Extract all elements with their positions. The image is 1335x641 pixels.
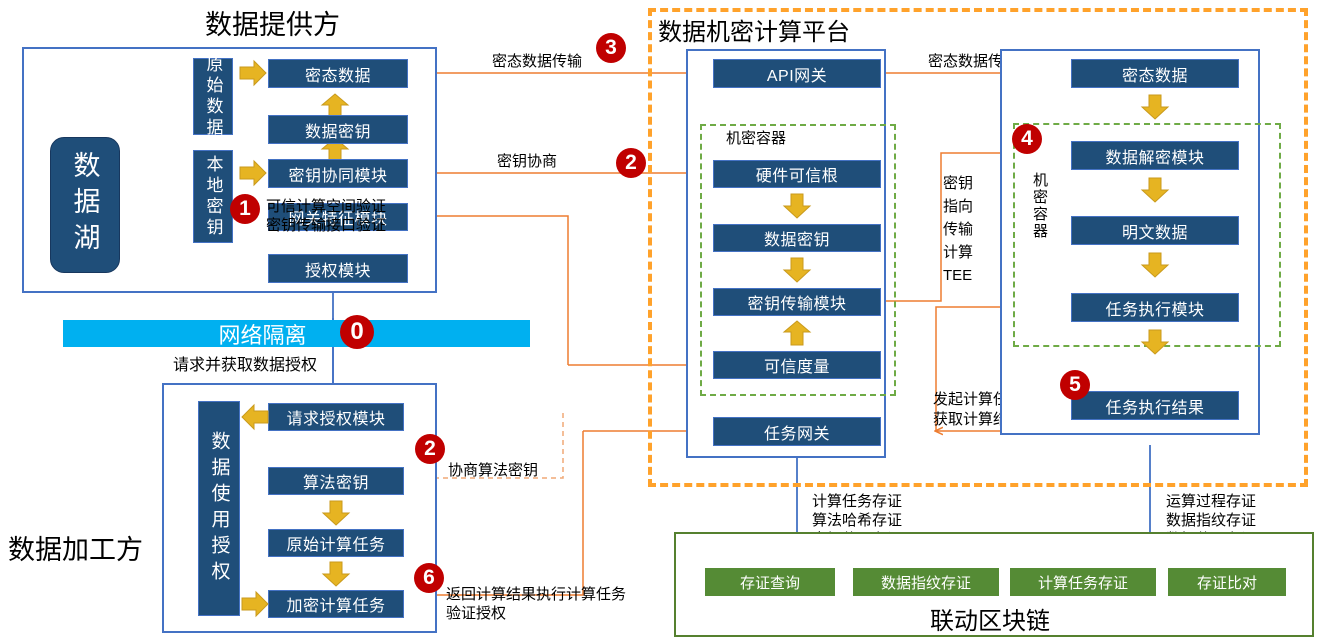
block-arrow-up-icon — [782, 320, 812, 347]
request-auth-label: 请求并获取数据授权 — [173, 356, 317, 375]
task-gateway-box[interactable]: 任务网关 — [713, 417, 881, 446]
badge-2-algo: 2 — [415, 434, 445, 464]
flow2-label: 密钥协商 — [497, 152, 557, 171]
badge-1: 1 — [230, 194, 260, 224]
api-gateway-box[interactable]: API网关 — [713, 59, 881, 88]
chain-right-line1: 运算过程存证 — [1166, 492, 1256, 511]
badge-3: 3 — [596, 33, 626, 63]
compute-box-cipher-data[interactable]: 密态数据 — [1071, 59, 1239, 88]
data-use-authorization-column[interactable]: 数据使用授权 — [198, 401, 240, 616]
local-key-box[interactable]: 本地密钥 — [193, 150, 233, 243]
processor-box-encrypted-compute-task[interactable]: 加密计算任务 — [268, 590, 404, 618]
algo-key-label: 协商算法密钥 — [448, 461, 538, 480]
provider-title: 数据提供方 — [205, 3, 340, 42]
chain-button-task-evidence[interactable]: 计算任务存证 — [1010, 568, 1156, 596]
chain-button-evidence-query[interactable]: 存证查询 — [705, 568, 835, 596]
platform-box-trusted-measurement[interactable]: 可信度量 — [713, 351, 881, 379]
chain-button-data-fingerprint[interactable]: 数据指纹存证 — [853, 568, 999, 596]
raw-data-box[interactable]: 原始数据 — [193, 58, 233, 135]
diagram-canvas: 数据提供方 数据湖 原始数据 本地密钥 密态数据 数据密钥 密钥协同模块 网关特… — [0, 0, 1335, 641]
flow1-label-line2: 密钥传输接口验证 — [266, 216, 386, 235]
platform-box-key-transfer-module[interactable]: 密钥传输模块 — [713, 288, 881, 316]
badge-6: 6 — [414, 563, 444, 593]
network-isolation-bar: 网络隔离 — [63, 320, 530, 347]
badge-5: 5 — [1060, 370, 1090, 400]
provider-box-cipher-data[interactable]: 密态数据 — [268, 59, 408, 88]
data-lake-box[interactable]: 数据湖 — [50, 137, 120, 273]
return-result-line2: 验证授权 — [446, 604, 506, 623]
block-arrow-down-icon — [321, 499, 351, 527]
network-isolation-label: 网络隔离 — [218, 318, 306, 350]
block-arrow-down-icon — [782, 192, 812, 220]
platform-box-data-key[interactable]: 数据密钥 — [713, 224, 881, 252]
badge-4: 4 — [1012, 124, 1042, 154]
blockchain-title: 联动区块链 — [930, 601, 1050, 636]
badge-0: 0 — [340, 315, 374, 349]
platform-box-hw-root-of-trust[interactable]: 硬件可信根 — [713, 160, 881, 188]
block-arrow-right-icon — [238, 158, 268, 188]
chain-right-line2: 数据指纹存证 — [1166, 511, 1256, 530]
chain-left-line1: 计算任务存证 — [812, 492, 902, 511]
badge-2: 2 — [616, 148, 646, 178]
chain-button-evidence-compare[interactable]: 存证比对 — [1168, 568, 1286, 596]
block-arrow-down-icon — [1140, 328, 1170, 356]
block-arrow-down-icon — [321, 560, 351, 588]
compute-box-data-decrypt-module[interactable]: 数据解密模块 — [1071, 141, 1239, 170]
block-arrow-left-icon — [240, 402, 270, 432]
block-arrow-down-icon — [1140, 93, 1170, 121]
platform-enclave-label: 机密容器 — [726, 129, 786, 148]
provider-box-key-coop-module[interactable]: 密钥协同模块 — [268, 159, 408, 188]
chain-left-line2: 算法哈希存证 — [812, 511, 902, 530]
compute-box-plaintext-data[interactable]: 明文数据 — [1071, 216, 1239, 245]
compute-box-task-result[interactable]: 任务执行结果 — [1071, 391, 1239, 420]
provider-box-auth-module[interactable]: 授权模块 — [268, 254, 408, 283]
flow1-label-line1: 可信计算空间验证 — [266, 197, 386, 216]
compute-enclave-label: 机密容器 — [1030, 172, 1049, 240]
block-arrow-down-icon — [1140, 251, 1170, 279]
compute-box-task-exec-module[interactable]: 任务执行模块 — [1071, 293, 1239, 322]
block-arrow-down-icon — [1140, 176, 1170, 204]
processor-box-raw-compute-task[interactable]: 原始计算任务 — [268, 529, 404, 557]
block-arrow-right-icon — [238, 58, 268, 88]
processor-box-request-auth-module[interactable]: 请求授权模块 — [268, 403, 404, 431]
block-arrow-down-icon — [782, 256, 812, 284]
provider-box-data-key[interactable]: 数据密钥 — [268, 115, 408, 144]
block-arrow-right-icon — [240, 589, 270, 619]
processor-title: 数据加工方 — [8, 528, 143, 567]
flow3-label: 密态数据传输 — [492, 52, 582, 71]
platform-title: 数据机密计算平台 — [658, 12, 850, 47]
return-result-line1: 返回计算结果执行计算任务 — [446, 585, 626, 604]
key-tee-label: 密钥 指向 传输 计算 TEE — [943, 172, 973, 287]
processor-box-algorithm-key[interactable]: 算法密钥 — [268, 467, 404, 495]
